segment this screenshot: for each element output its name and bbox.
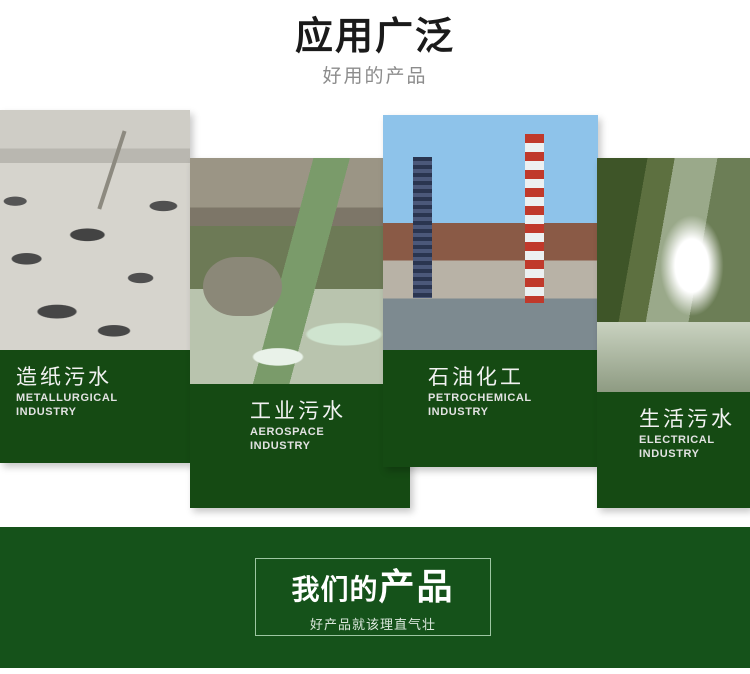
- card-label-band: 石油化工 PETROCHEMICAL INDUSTRY: [383, 350, 598, 467]
- banner-subtitle: 好产品就该理直气壮: [256, 615, 490, 635]
- card-subtitle-en-line1: ELECTRICAL: [639, 433, 750, 447]
- page-header: 应用广泛 好用的产品: [0, 0, 750, 92]
- page-title: 应用广泛: [0, 14, 750, 60]
- industry-card-grid: 造纸污水 METALLURGICAL INDUSTRY 工业污水 AEROSPA…: [0, 110, 750, 510]
- industry-card-petrochemical[interactable]: 石油化工 PETROCHEMICAL INDUSTRY: [383, 115, 598, 467]
- card-title-cn: 造纸污水: [16, 364, 190, 391]
- industry-card-domestic[interactable]: 生活污水 ELECTRICAL INDUSTRY: [597, 158, 750, 508]
- card-subtitle-en-line2: INDUSTRY: [428, 405, 598, 419]
- petrochemical-plant-photo: [383, 115, 598, 350]
- banner-title-big: 产品: [379, 566, 455, 607]
- our-products-banner: 我们的产品 好产品就该理直气壮: [0, 527, 750, 668]
- card-subtitle-en-line1: METALLURGICAL: [16, 391, 190, 405]
- banner-title-box: 我们的产品 好产品就该理直气壮: [255, 558, 491, 636]
- card-title-cn: 石油化工: [428, 364, 598, 391]
- industry-card-papermaking[interactable]: 造纸污水 METALLURGICAL INDUSTRY: [0, 110, 190, 463]
- card-subtitle-en-line2: INDUSTRY: [16, 405, 190, 419]
- industrial-outfall-discharge-photo: [190, 158, 410, 384]
- banner-title-small: 我们的: [291, 574, 378, 605]
- domestic-sewage-river-photo: [597, 158, 750, 392]
- card-subtitle-en-line1: PETROCHEMICAL: [428, 391, 598, 405]
- bottom-white-strip: [0, 668, 750, 674]
- paper-mill-wastewater-photo: [0, 110, 190, 350]
- page-subtitle: 好用的产品: [0, 62, 750, 92]
- banner-title: 我们的产品: [256, 567, 490, 615]
- card-label-band: 工业污水 AEROSPACE INDUSTRY: [190, 384, 410, 508]
- industry-card-industrial[interactable]: 工业污水 AEROSPACE INDUSTRY: [190, 158, 410, 508]
- card-label-band: 生活污水 ELECTRICAL INDUSTRY: [597, 392, 750, 508]
- card-subtitle-en-line2: INDUSTRY: [639, 447, 750, 461]
- card-label-band: 造纸污水 METALLURGICAL INDUSTRY: [0, 350, 190, 463]
- card-title-cn: 生活污水: [639, 406, 750, 433]
